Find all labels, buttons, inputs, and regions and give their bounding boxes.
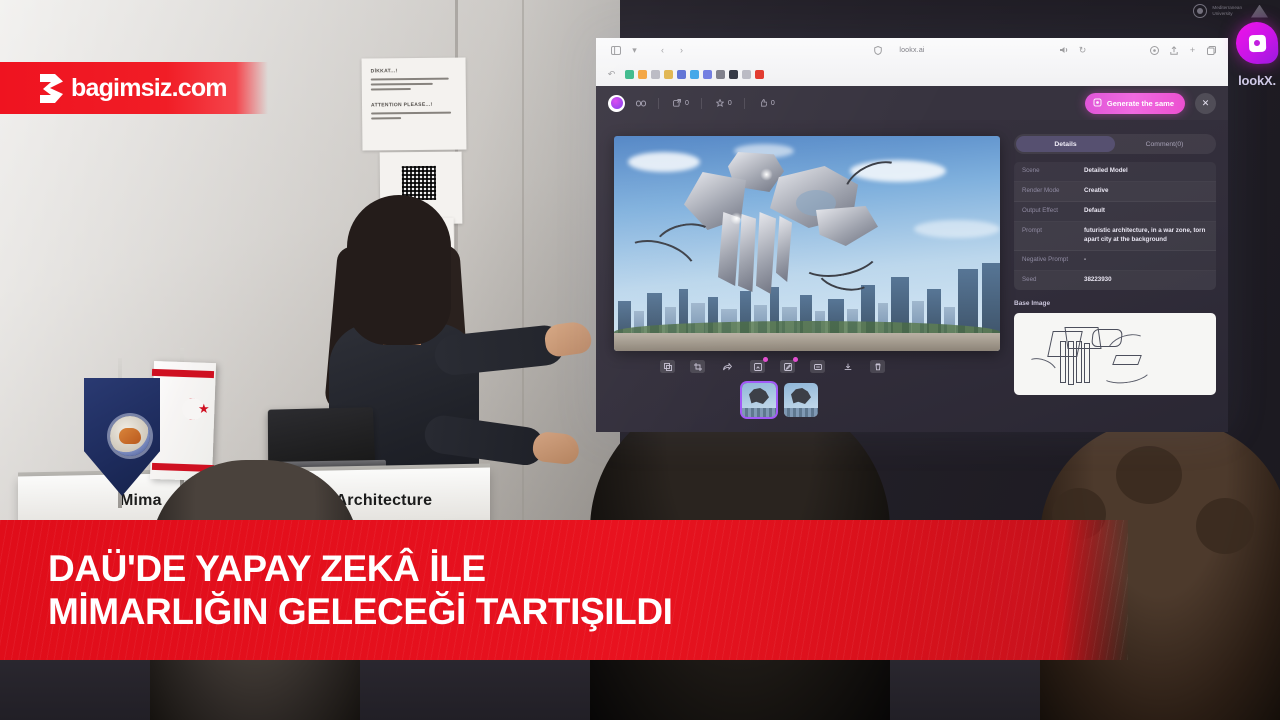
audio-icon[interactable]: [1057, 44, 1070, 57]
lookx-watermark-text: lookX.: [1234, 73, 1280, 88]
field-value: 38223930: [1084, 276, 1112, 285]
star-count-value: 0: [728, 100, 732, 107]
field-value: -: [1084, 256, 1086, 265]
base-image-thumbnail[interactable]: [1014, 313, 1216, 395]
field-prompt: Prompt futuristic architecture, in a war…: [1014, 222, 1216, 251]
reading-icon[interactable]: [664, 70, 673, 79]
screenshot-stage: DİKKAT...! ATTENTION PLEASE...!: [0, 0, 1280, 720]
share-arrow-icon[interactable]: [720, 360, 735, 373]
field-value: futuristic architecture, in a war zone, …: [1084, 227, 1208, 245]
upscale-icon[interactable]: [750, 360, 765, 373]
field-output-effect: Output Effect Default: [1014, 202, 1216, 222]
notes-icon[interactable]: [651, 70, 660, 79]
field-render-mode: Render Mode Creative: [1014, 182, 1216, 202]
field-negative-prompt: Negative Prompt -: [1014, 251, 1216, 271]
crop-icon[interactable]: [690, 360, 705, 373]
image-viewer-column: [596, 120, 1014, 432]
edit-icon[interactable]: [780, 360, 795, 373]
field-scene: Scene Detailed Model: [1014, 162, 1216, 182]
apps-icon[interactable]: [625, 70, 634, 79]
calendar-icon[interactable]: [690, 70, 699, 79]
angular-b-logo-icon: [38, 73, 64, 103]
image-action-bar: [614, 360, 1000, 373]
brand-bar: bagimsiz.com: [0, 62, 268, 114]
university-name-line2: University: [1212, 11, 1242, 17]
university-mark-icon: [1251, 5, 1268, 18]
field-key: Seed: [1022, 276, 1084, 285]
upscale-badge: [763, 357, 768, 362]
edit-badge: [793, 357, 798, 362]
field-value: Creative: [1084, 187, 1108, 196]
crescent-icon: [176, 398, 198, 420]
copy-icon[interactable]: [660, 360, 675, 373]
lectern-label-left: Mima: [120, 492, 162, 510]
panel-tabs: Details Comment(0): [1014, 134, 1216, 154]
app-header: 0 0 0 Generate the same ✕: [596, 86, 1228, 120]
like-count-value: 0: [771, 100, 775, 107]
app-body: Details Comment(0) Scene Detailed Model …: [596, 120, 1228, 432]
headline-line-2: MİMARLIĞIN GELECEĞİ TARTIŞILDI: [48, 591, 1128, 632]
tab-comment[interactable]: Comment(0): [1115, 136, 1214, 152]
globe-icon[interactable]: [716, 70, 725, 79]
headline-bar: DAÜ'DE YAPAY ZEKÂ İLE MİMARLIĞIN GELECEĞ…: [0, 520, 1128, 660]
browser-bookmarks-bar: ↶ LookX AI Cloud: [596, 62, 1228, 86]
details-field-list: Scene Detailed Model Render Mode Creativ…: [1014, 162, 1216, 290]
star-count[interactable]: 0: [716, 99, 732, 107]
generate-the-same-button[interactable]: Generate the same: [1085, 93, 1185, 114]
variant-thumbnails: [614, 383, 1000, 417]
extensions-icon[interactable]: [1148, 44, 1161, 57]
delete-icon[interactable]: [870, 360, 885, 373]
generate-button-label: Generate the same: [1107, 99, 1174, 108]
field-value: Default: [1084, 207, 1105, 216]
share-icon[interactable]: [1167, 44, 1180, 57]
poster-title-en: ATTENTION PLEASE...!: [371, 102, 433, 109]
star-icon: ★: [198, 402, 210, 415]
bookmark-star-icon[interactable]: [638, 70, 647, 79]
university-logo: Mediterranean University: [1193, 4, 1268, 18]
link-icon[interactable]: [636, 100, 646, 107]
poster-title-tr: DİKKAT...!: [371, 68, 398, 74]
mail-icon[interactable]: [677, 70, 686, 79]
field-key: Scene: [1022, 167, 1084, 176]
field-key: Output Effect: [1022, 207, 1084, 216]
sparkle-icon: [1093, 98, 1102, 109]
university-emblem-icon: [110, 416, 150, 456]
share-count[interactable]: 0: [673, 99, 689, 107]
alert-icon[interactable]: [755, 70, 764, 79]
user-avatar-icon[interactable]: [608, 95, 625, 112]
close-icon[interactable]: ✕: [1195, 93, 1216, 114]
field-key: Render Mode: [1022, 187, 1084, 196]
browser-chrome: ▾ ‹ › lookx.ai ↻ +: [596, 38, 1228, 86]
notice-poster: DİKKAT...! ATTENTION PLEASE...!: [362, 57, 467, 150]
base-image-label: Base Image: [1014, 300, 1216, 307]
sketch-drawing: [1030, 325, 1170, 385]
refresh-icon[interactable]: ↻: [1076, 44, 1089, 57]
wallet-icon[interactable]: [729, 70, 738, 79]
download-icon[interactable]: [840, 360, 855, 373]
new-tab-icon[interactable]: +: [1186, 44, 1199, 57]
lookx-badge-icon: [1235, 21, 1278, 64]
send-icon[interactable]: [703, 70, 712, 79]
bookmark-icons-group: ↶: [596, 68, 764, 81]
share-count-value: 0: [685, 100, 689, 107]
headline-line-1: DAÜ'DE YAPAY ZEKÂ İLE: [48, 548, 1128, 589]
tab-overview-icon[interactable]: [1205, 44, 1218, 57]
thumbnail-variant-2[interactable]: [784, 383, 818, 417]
like-count[interactable]: 0: [759, 99, 775, 107]
clock-icon[interactable]: [742, 70, 751, 79]
variation-icon[interactable]: [810, 360, 825, 373]
tab-details[interactable]: Details: [1016, 136, 1115, 152]
details-panel: Details Comment(0) Scene Detailed Model …: [1014, 120, 1228, 432]
field-key: Prompt: [1022, 227, 1084, 245]
thumbnail-variant-1[interactable]: [742, 383, 776, 417]
field-seed: Seed 38223930: [1014, 271, 1216, 290]
generated-image[interactable]: [614, 136, 1000, 351]
window-title: lookx.ai: [596, 47, 1228, 54]
lookx-watermark: lookX.: [1234, 22, 1280, 118]
field-value: Detailed Model: [1084, 167, 1128, 176]
history-icon[interactable]: ↶: [605, 68, 618, 81]
futuristic-structure: [666, 150, 896, 300]
brand-name: bagimsiz.com: [71, 74, 227, 103]
laptop: [268, 407, 375, 465]
browser-toolbar: ▾ ‹ › lookx.ai ↻ +: [596, 38, 1228, 62]
university-seal-icon: [1193, 4, 1207, 18]
field-key: Negative Prompt: [1022, 256, 1084, 265]
projected-screen: ▾ ‹ › lookx.ai ↻ +: [596, 38, 1228, 432]
